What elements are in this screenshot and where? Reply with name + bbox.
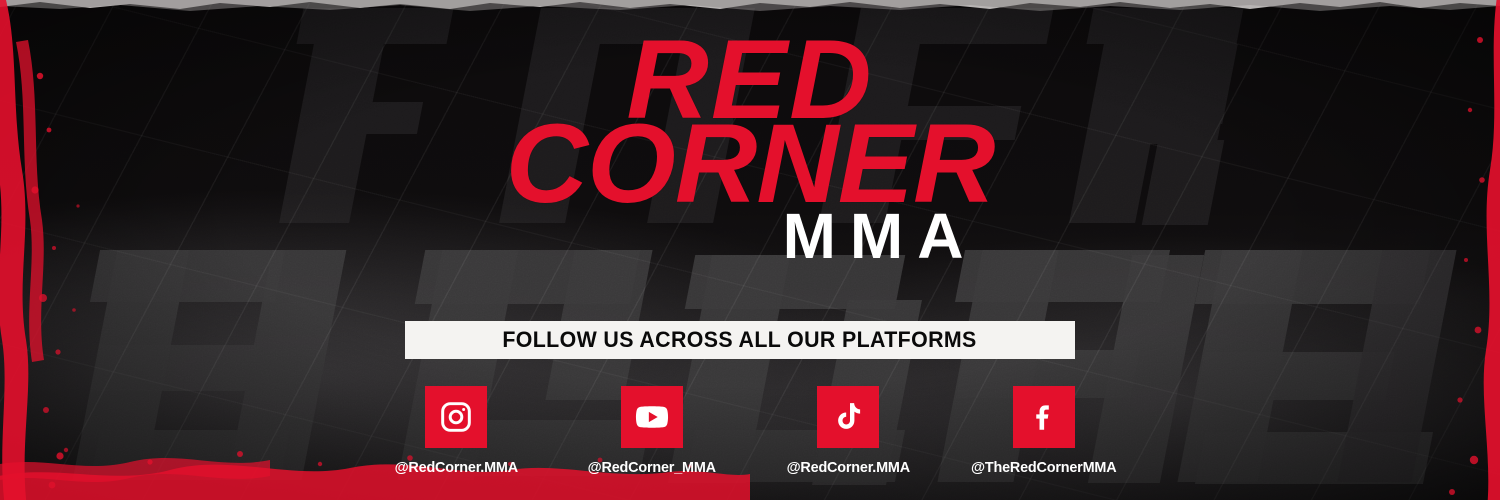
instagram-icon bbox=[439, 400, 473, 434]
tiktok-icon bbox=[832, 401, 864, 433]
social-handle-tiktok: @RedCorner.MMA bbox=[786, 459, 909, 476]
youtube-icon bbox=[634, 399, 670, 435]
social-link-facebook[interactable]: @TheRedCornerMMA bbox=[1013, 386, 1075, 476]
social-handle-instagram: @RedCorner.MMA bbox=[394, 459, 517, 476]
tiktok-icon-box[interactable] bbox=[817, 386, 879, 448]
social-link-instagram[interactable]: @RedCorner.MMA bbox=[425, 386, 487, 476]
facebook-icon bbox=[1028, 401, 1060, 433]
social-handle-facebook: @TheRedCornerMMA bbox=[971, 459, 1116, 476]
follow-callout-text: FOLLOW US ACROSS ALL OUR PLATFORMS bbox=[503, 327, 977, 353]
follow-callout-bar: FOLLOW US ACROSS ALL OUR PLATFORMS bbox=[405, 321, 1075, 359]
facebook-icon-box[interactable] bbox=[1013, 386, 1075, 448]
social-link-youtube[interactable]: @RedCorner_MMA bbox=[621, 386, 683, 476]
social-link-tiktok[interactable]: @RedCorner.MMA bbox=[817, 386, 879, 476]
brand-logo: RED CORNER MMA bbox=[0, 34, 1500, 268]
youtube-icon-box[interactable] bbox=[621, 386, 683, 448]
social-handle-youtube: @RedCorner_MMA bbox=[588, 459, 716, 476]
social-links-row: @RedCorner.MMA @RedCorner_MMA bbox=[0, 386, 1500, 476]
instagram-icon-box[interactable] bbox=[425, 386, 487, 448]
social-banner: RED CORNER MMA FOLLOW US ACROSS ALL OUR … bbox=[0, 0, 1500, 500]
brand-word-corner: CORNER bbox=[0, 118, 1500, 210]
